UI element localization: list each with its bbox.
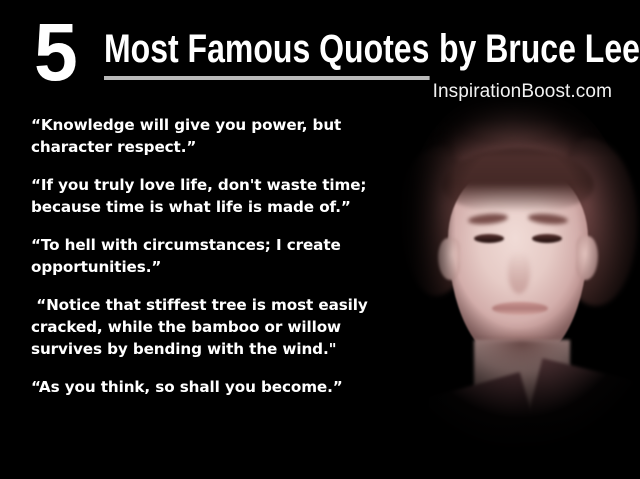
quote-item-2: “If you truly love life, don't waste tim… <box>31 174 431 218</box>
quote-item-4: “Notice that stiffest tree is most easil… <box>31 294 431 360</box>
page-title-emphasis: Most Famous Quotes <box>104 27 429 80</box>
quote-item-5: “As you think, so shall you become.” <box>31 376 431 398</box>
portrait-eye-right <box>532 234 562 243</box>
quote-list: “Knowledge will give you power, but char… <box>31 114 431 398</box>
website-credit: InspirationBoost.com <box>0 81 612 103</box>
quote-item-3: “To hell with circumstances; I create op… <box>31 234 431 278</box>
portrait-lips <box>492 302 548 315</box>
page-title: Most Famous Quotesby Bruce Lee <box>104 27 640 71</box>
quote-item-1: “Knowledge will give you power, but char… <box>31 114 431 158</box>
page-title-attribution: by Bruce Lee <box>429 27 640 71</box>
portrait-ear-left <box>438 238 460 280</box>
portrait-eye-left <box>474 234 504 243</box>
portrait-nose <box>508 252 530 294</box>
quote-poster: 5 Most Famous Quotesby Bruce Lee Inspira… <box>0 0 640 479</box>
poster-header: 5 Most Famous Quotesby Bruce Lee Inspira… <box>0 0 640 108</box>
